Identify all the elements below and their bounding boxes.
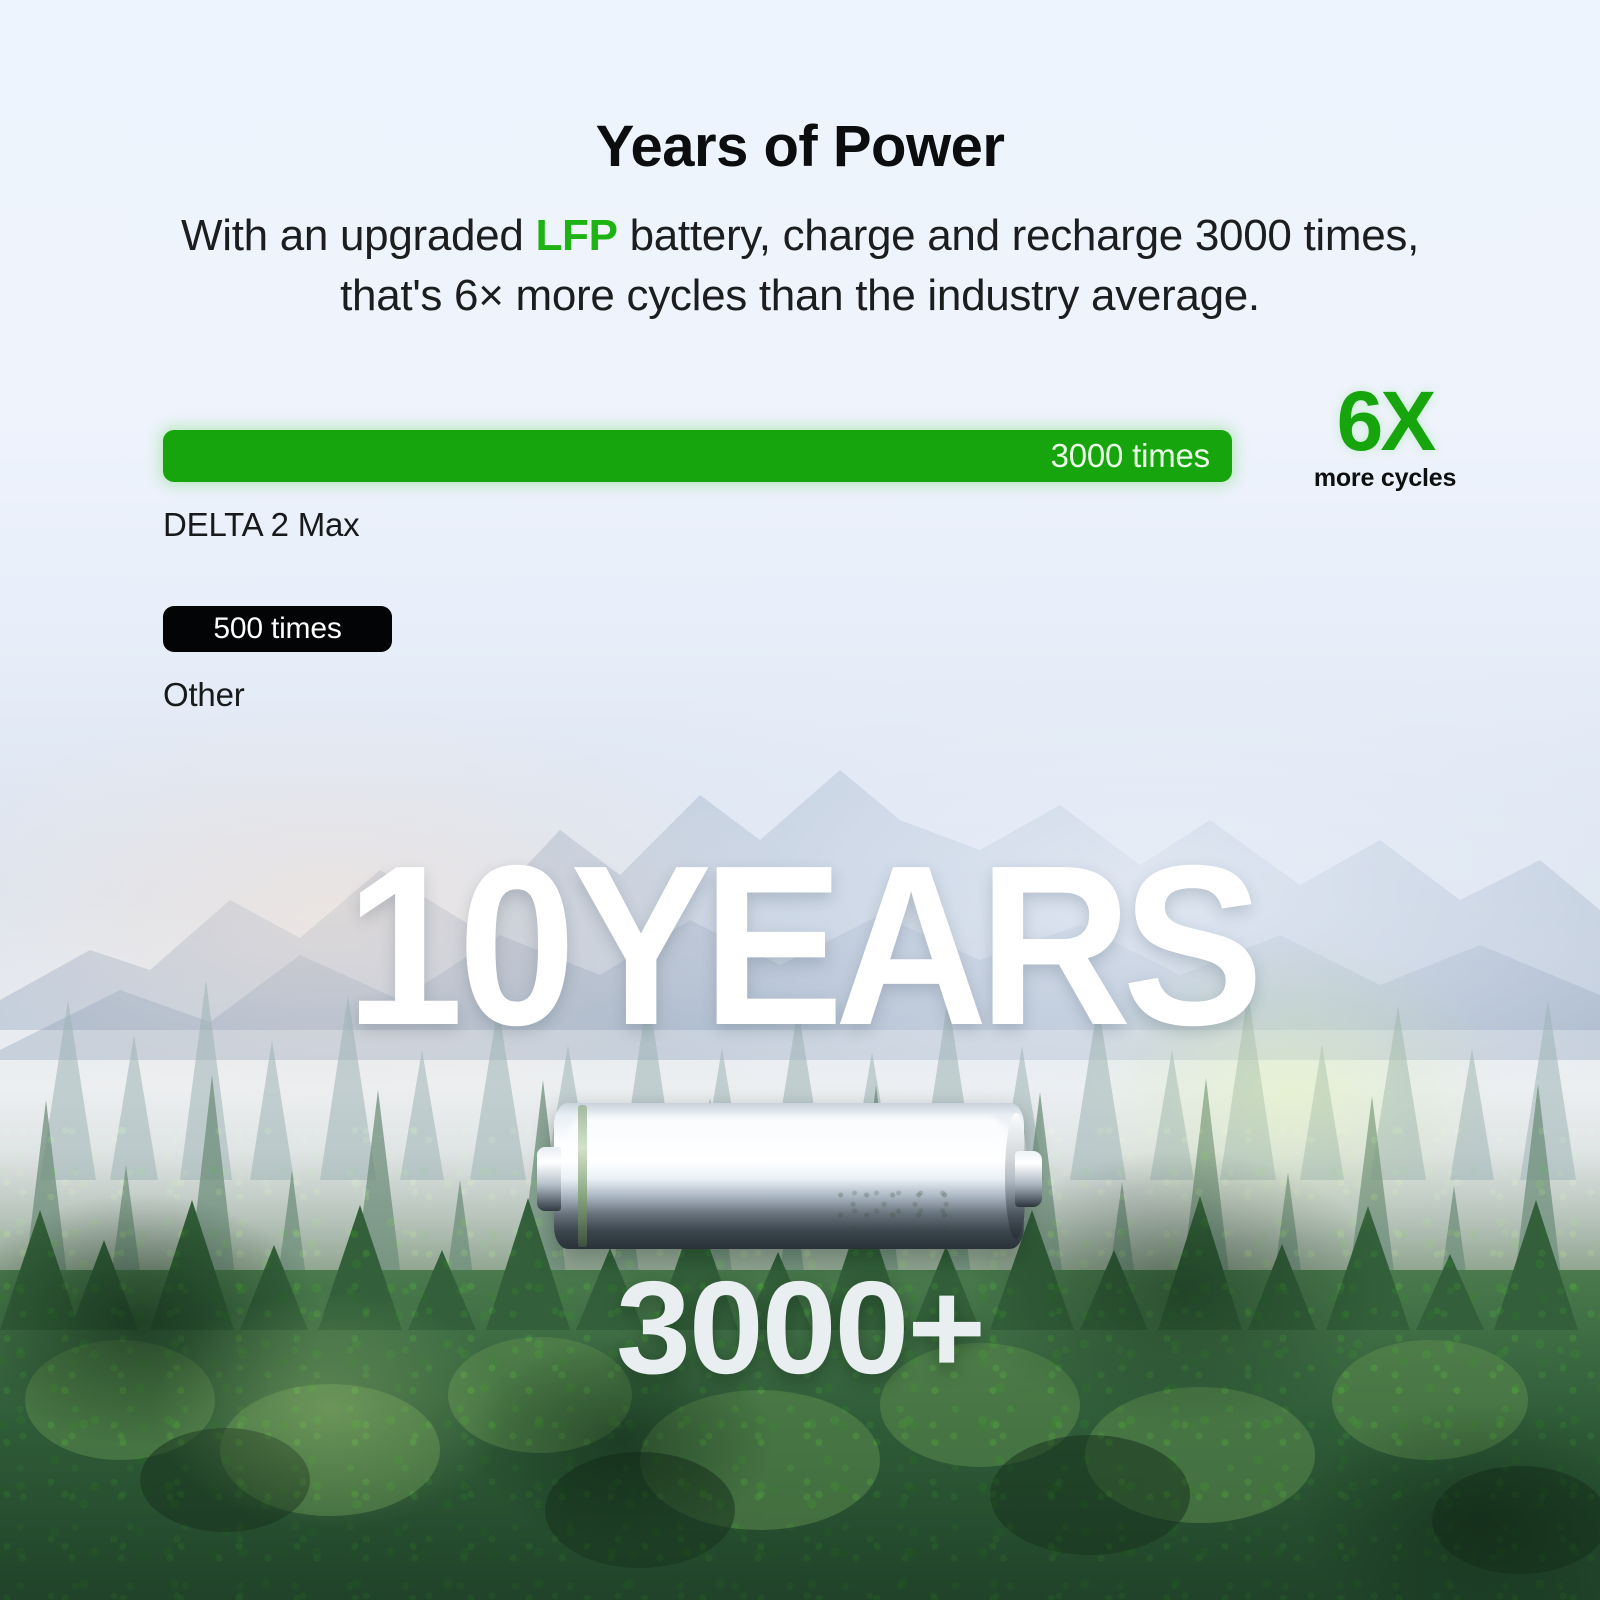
header-block: Years of Power With an upgraded LFP batt… <box>0 0 1600 326</box>
bar-label-other: Other <box>163 676 1563 714</box>
multiplier-callout: 6X more cycles <box>1255 382 1515 493</box>
battery-ring <box>578 1105 587 1247</box>
bar-label-delta2max: DELTA 2 Max <box>163 506 1563 544</box>
chart-row-other: 500 times Other <box>163 606 1563 714</box>
hero-years-number: 10 <box>346 819 571 1073</box>
subtitle-text-before: With an upgraded <box>181 211 535 260</box>
page-title: Years of Power <box>0 118 1600 176</box>
battery-negative-terminal <box>537 1147 561 1211</box>
multiplier-caption: more cycles <box>1255 464 1515 493</box>
multiplier-value: 6X <box>1255 382 1515 462</box>
bar-other: 500 times <box>163 606 392 652</box>
bar-value-other: 500 times <box>213 612 341 646</box>
bar-delta2max: 3000 times <box>163 430 1232 482</box>
battery-highlight <box>567 1117 1007 1157</box>
promo-page: Years of Power With an upgraded LFP batt… <box>0 0 1600 1600</box>
battery-surface-speckle <box>837 1189 957 1229</box>
hero-cycle-count: 3000+ <box>0 1262 1600 1394</box>
page-subtitle: With an upgraded LFP battery, charge and… <box>150 206 1450 326</box>
battery-cell-icon <box>537 1103 1042 1249</box>
hero-years-text: 10YEARS <box>56 832 1544 1060</box>
cycle-comparison-chart: 3000 times DELTA 2 Max 500 times Other 6… <box>163 430 1563 714</box>
bar-value-delta2max: 3000 times <box>1051 437 1232 475</box>
subtitle-highlight-lfp: LFP <box>535 211 617 260</box>
hero-years-word: YEARS <box>570 819 1254 1073</box>
battery-positive-terminal <box>1015 1151 1042 1207</box>
